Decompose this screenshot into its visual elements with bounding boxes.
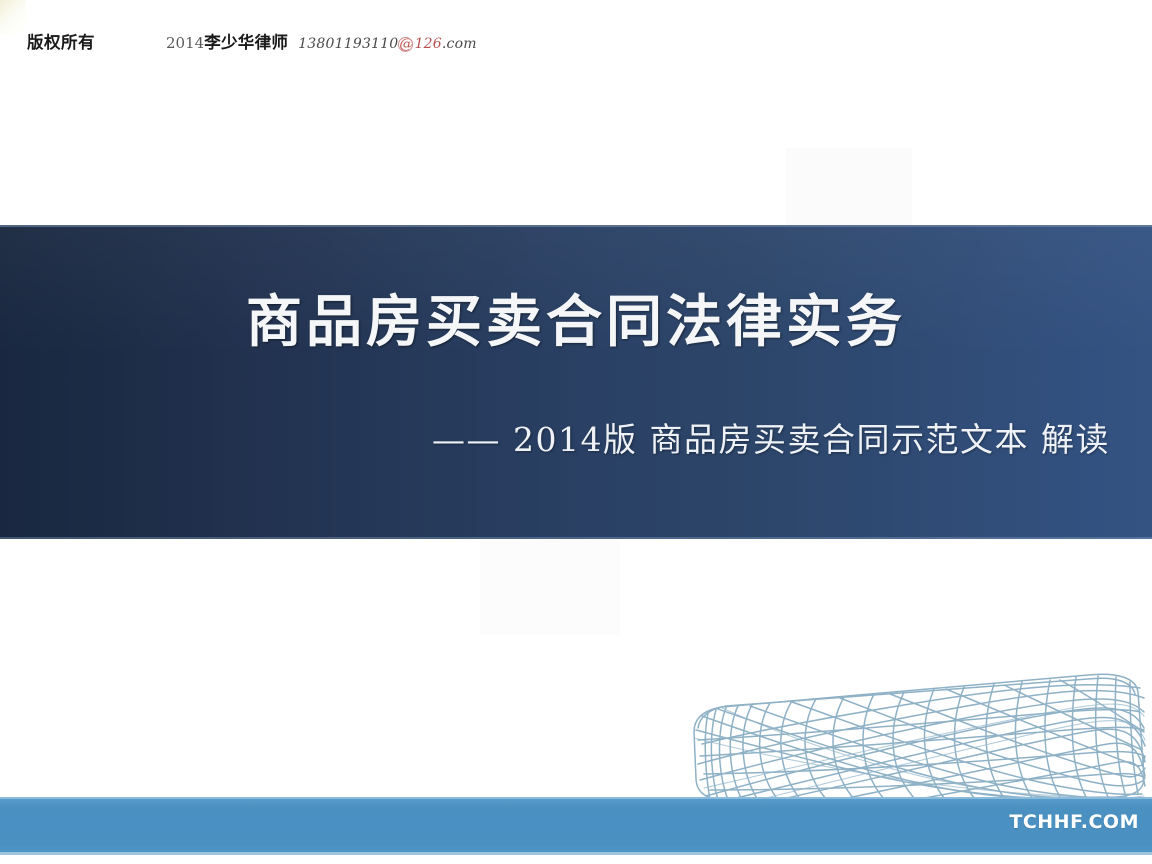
footer-bar: TCHHF.COM bbox=[0, 797, 1152, 855]
page-subtitle: —— 2014版 商品房买卖合同示范文本 解读 bbox=[0, 413, 1152, 461]
banner-top-edge bbox=[0, 225, 1152, 227]
footer-bar-top-edge bbox=[0, 797, 1152, 799]
contact-email: 13801193110@126.com bbox=[298, 36, 477, 52]
banner-bottom-edge bbox=[0, 537, 1152, 539]
page-title: 商品房买卖合同法律实务 bbox=[0, 293, 1152, 352]
brand-logo[interactable]: TCHHF.COM bbox=[1009, 811, 1139, 833]
email-domain-number: 126 bbox=[415, 36, 442, 52]
copyright-year: 2014 bbox=[166, 34, 204, 52]
copyright-header: 版权所有 2014 李少华律师 13801193110@126.com bbox=[27, 29, 477, 53]
stadium-wireframe-graphic bbox=[688, 668, 1152, 803]
copyright-label: 版权所有 bbox=[27, 29, 95, 53]
presentation-slide: 版权所有 2014 李少华律师 13801193110@126.com 商品房买… bbox=[0, 0, 1152, 864]
at-symbol-icon: @ bbox=[398, 36, 414, 52]
email-domain-suffix: .com bbox=[442, 36, 477, 52]
corner-accent-tint bbox=[0, 0, 26, 34]
background-tint-block bbox=[786, 148, 912, 226]
lawyer-name: 李少华律师 bbox=[204, 29, 288, 53]
title-banner: 商品房买卖合同法律实务 —— 2014版 商品房买卖合同示范文本 解读 bbox=[0, 225, 1152, 539]
background-tint-block-secondary bbox=[480, 540, 620, 635]
email-local-part: 13801193110 bbox=[298, 36, 398, 52]
footer-bar-bottom-edge bbox=[0, 852, 1152, 855]
banner-sheen-overlay bbox=[0, 225, 1152, 539]
